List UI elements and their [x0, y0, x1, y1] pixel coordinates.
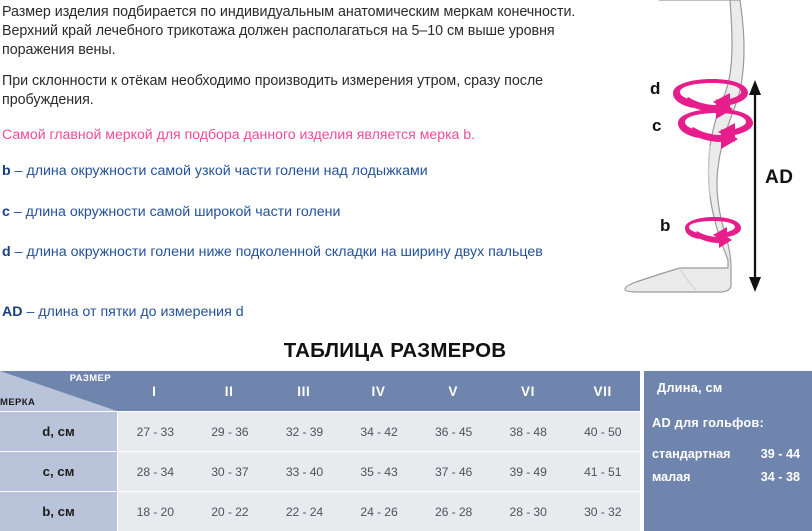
definition-ad-dash: –	[23, 304, 39, 320]
cell-c-4: 35 - 43	[342, 465, 417, 479]
column-header-3: III	[266, 384, 341, 399]
cell-b-2: 20 - 22	[193, 505, 268, 519]
row-label-d: d, см	[0, 412, 117, 451]
cell-d-2: 29 - 36	[193, 425, 268, 439]
definition-c-dash: –	[10, 204, 26, 220]
cell-d-4: 34 - 42	[342, 425, 417, 439]
cell-b-6: 28 - 30	[491, 505, 566, 519]
column-header-1: I	[117, 384, 192, 399]
cell-b-4: 24 - 26	[342, 505, 417, 519]
length-row-small-value: 34 - 38	[761, 470, 804, 484]
cell-c-6: 39 - 49	[491, 465, 566, 479]
row-values-b: 18 - 20 20 - 22 22 - 24 24 - 26 26 - 28 …	[118, 492, 640, 531]
cell-b-7: 30 - 32	[565, 505, 640, 519]
definition-d: d – длина окружности голени ниже подколе…	[2, 243, 582, 262]
definition-ad: AD – длина от пятки до измерения d	[2, 303, 598, 322]
definition-ad-text: длина от пятки до измерения d	[38, 304, 243, 320]
row-values-d: 27 - 33 29 - 36 32 - 39 34 - 42 36 - 45 …	[118, 412, 640, 451]
table-row: d, см 27 - 33 29 - 36 32 - 39 34 - 42 36…	[0, 412, 640, 451]
ad-length-arrow-icon	[749, 80, 761, 292]
cell-b-1: 18 - 20	[118, 505, 193, 519]
definition-c-text: длина окружности самой широкой части гол…	[26, 204, 341, 220]
leg-silhouette-icon	[625, 0, 744, 292]
cell-d-6: 38 - 48	[491, 425, 566, 439]
row-label-c: с, см	[0, 452, 117, 491]
diagram-label-c: c	[652, 116, 661, 136]
length-row-standard-name: стандартная	[652, 447, 730, 461]
length-panel-subtitle: AD для гольфов:	[652, 415, 764, 430]
definition-d-key: d	[2, 244, 11, 260]
corner-label-razmer: РАЗМЕР	[70, 373, 111, 384]
cell-d-5: 36 - 45	[416, 425, 491, 439]
definition-b-dash: –	[11, 163, 27, 179]
cell-c-2: 30 - 37	[193, 465, 268, 479]
definition-c: c – длина окружности самой широкой части…	[2, 203, 598, 222]
length-row-small: малая 34 - 38	[652, 470, 804, 484]
corner-label-merka: МЕРКА	[0, 397, 35, 408]
column-header-7: VII	[565, 384, 640, 399]
definition-b: b – длина окружности самой узкой части г…	[2, 162, 598, 181]
intro-paragraph-2: При склонности к отёкам необходимо произ…	[2, 72, 598, 110]
diagram-label-d: d	[650, 79, 660, 99]
table-corner-cell: РАЗМЕР МЕРКА	[0, 371, 117, 411]
cell-d-7: 40 - 50	[565, 425, 640, 439]
cell-c-3: 33 - 40	[267, 465, 342, 479]
cell-b-5: 26 - 28	[416, 505, 491, 519]
size-table-header-row: РАЗМЕР МЕРКА I II III IV V VI VII	[0, 371, 640, 411]
length-panel: Длина, см AD для гольфов: стандартная 39…	[644, 371, 812, 531]
definition-c-key: c	[2, 204, 10, 220]
cell-c-5: 37 - 46	[416, 465, 491, 479]
length-panel-title: Длина, см	[657, 380, 722, 395]
definition-ad-key: AD	[2, 304, 23, 320]
definition-d-dash: –	[11, 244, 27, 260]
cell-d-3: 32 - 39	[267, 425, 342, 439]
column-header-4: IV	[341, 384, 416, 399]
column-header-2: II	[192, 384, 267, 399]
diagram-label-b: b	[660, 216, 670, 236]
length-row-small-name: малая	[652, 470, 691, 484]
cell-b-3: 22 - 24	[267, 505, 342, 519]
leg-measurement-diagram: d c b AD	[600, 0, 812, 330]
table-row: с, см 28 - 34 30 - 37 33 - 40 35 - 43 37…	[0, 452, 640, 491]
cell-c-1: 28 - 34	[118, 465, 193, 479]
key-measurement-highlight: Самой главной меркой для подбора данного…	[2, 125, 602, 144]
definition-b-key: b	[2, 163, 11, 179]
size-table-title: ТАБЛИЦА РАЗМЕРОВ	[0, 339, 790, 363]
measurement-arrow-b-icon	[685, 217, 741, 248]
intro-paragraph-1: Размер изделия подбирается по индивидуал…	[2, 3, 598, 61]
size-column-headers: I II III IV V VI VII	[117, 371, 640, 411]
column-header-6: VI	[491, 384, 566, 399]
size-table: РАЗМЕР МЕРКА I II III IV V VI VII d, см …	[0, 371, 640, 531]
row-label-b: b, см	[0, 492, 117, 531]
definition-d-text: длина окружности голени ниже подколенной…	[26, 244, 542, 260]
definition-b-text: длина окружности самой узкой части голен…	[26, 163, 427, 179]
size-guide-page: Размер изделия подбирается по индивидуал…	[0, 0, 812, 531]
cell-c-7: 41 - 51	[565, 465, 640, 479]
column-header-5: V	[416, 384, 491, 399]
length-row-standard: стандартная 39 - 44	[652, 447, 804, 461]
cell-d-1: 27 - 33	[118, 425, 193, 439]
length-row-standard-value: 39 - 44	[761, 447, 804, 461]
row-values-c: 28 - 34 30 - 37 33 - 40 35 - 43 37 - 46 …	[118, 452, 640, 491]
table-row: b, см 18 - 20 20 - 22 22 - 24 24 - 26 26…	[0, 492, 640, 531]
diagram-label-ad: AD	[765, 167, 793, 189]
